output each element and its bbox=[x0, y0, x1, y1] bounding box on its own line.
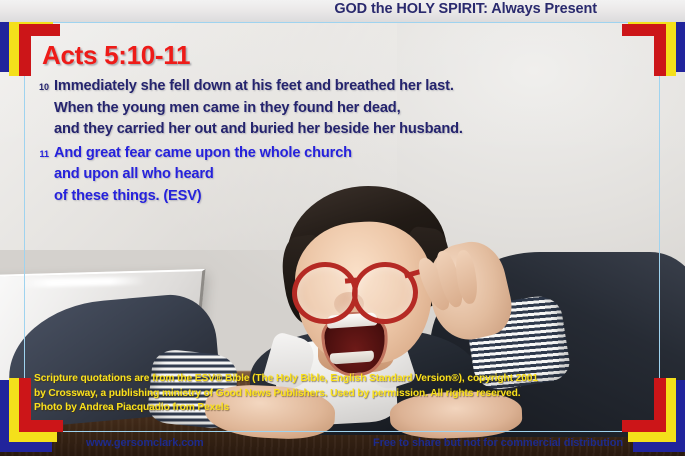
verse-line: When the young men came in they found he… bbox=[54, 98, 463, 120]
verse-line: of these things. (ESV) bbox=[54, 186, 352, 208]
footer-website-link[interactable]: www.gersomclark.com bbox=[86, 437, 204, 449]
verse-line: And great fear came upon the whole churc… bbox=[54, 143, 352, 165]
verse-text: And great fear came upon the whole churc… bbox=[54, 143, 352, 208]
verse-text: Immediately she fell down at his feet an… bbox=[54, 76, 463, 141]
bracket-red-vertical bbox=[19, 378, 31, 432]
bracket-red-vertical bbox=[19, 24, 31, 76]
scripture-reference: Acts 5:10-11 bbox=[42, 40, 634, 71]
header-bar: GOD the HOLY SPIRIT: Always Present bbox=[0, 0, 685, 22]
copyright-block: Scripture quotations are from the ESV® B… bbox=[34, 372, 634, 416]
verse-line: Immediately she fell down at his feet an… bbox=[54, 76, 463, 98]
scripture-block: Acts 5:10-11 10 Immediately she fell dow… bbox=[34, 40, 634, 209]
bracket-red-vertical bbox=[654, 24, 666, 76]
footer-distribution-note: Free to share but not for commercial dis… bbox=[373, 437, 623, 449]
verse-number: 10 bbox=[34, 76, 54, 98]
verse-line: and upon all who heard bbox=[54, 164, 352, 186]
photo-credit-line: Photo by Andrea Piacquadio from Pexels bbox=[34, 401, 634, 416]
verse-10: 10 Immediately she fell down at his feet… bbox=[34, 76, 634, 141]
slide-canvas: GOD the HOLY SPIRIT: Always Present bbox=[0, 0, 685, 456]
bracket-red-vertical bbox=[654, 378, 666, 432]
verse-11: 11 And great fear came upon the whole ch… bbox=[34, 143, 634, 208]
header-title: GOD the HOLY SPIRIT: Always Present bbox=[334, 1, 597, 17]
copyright-line-1: Scripture quotations are from the ESV® B… bbox=[34, 372, 634, 387]
verse-number: 11 bbox=[34, 143, 54, 165]
verse-line: and they carried her out and buried her … bbox=[54, 119, 463, 141]
footer-bar: www.gersomclark.com Free to share but no… bbox=[0, 432, 685, 456]
copyright-line-2: by Crossway, a publishing ministry of Go… bbox=[34, 387, 634, 402]
